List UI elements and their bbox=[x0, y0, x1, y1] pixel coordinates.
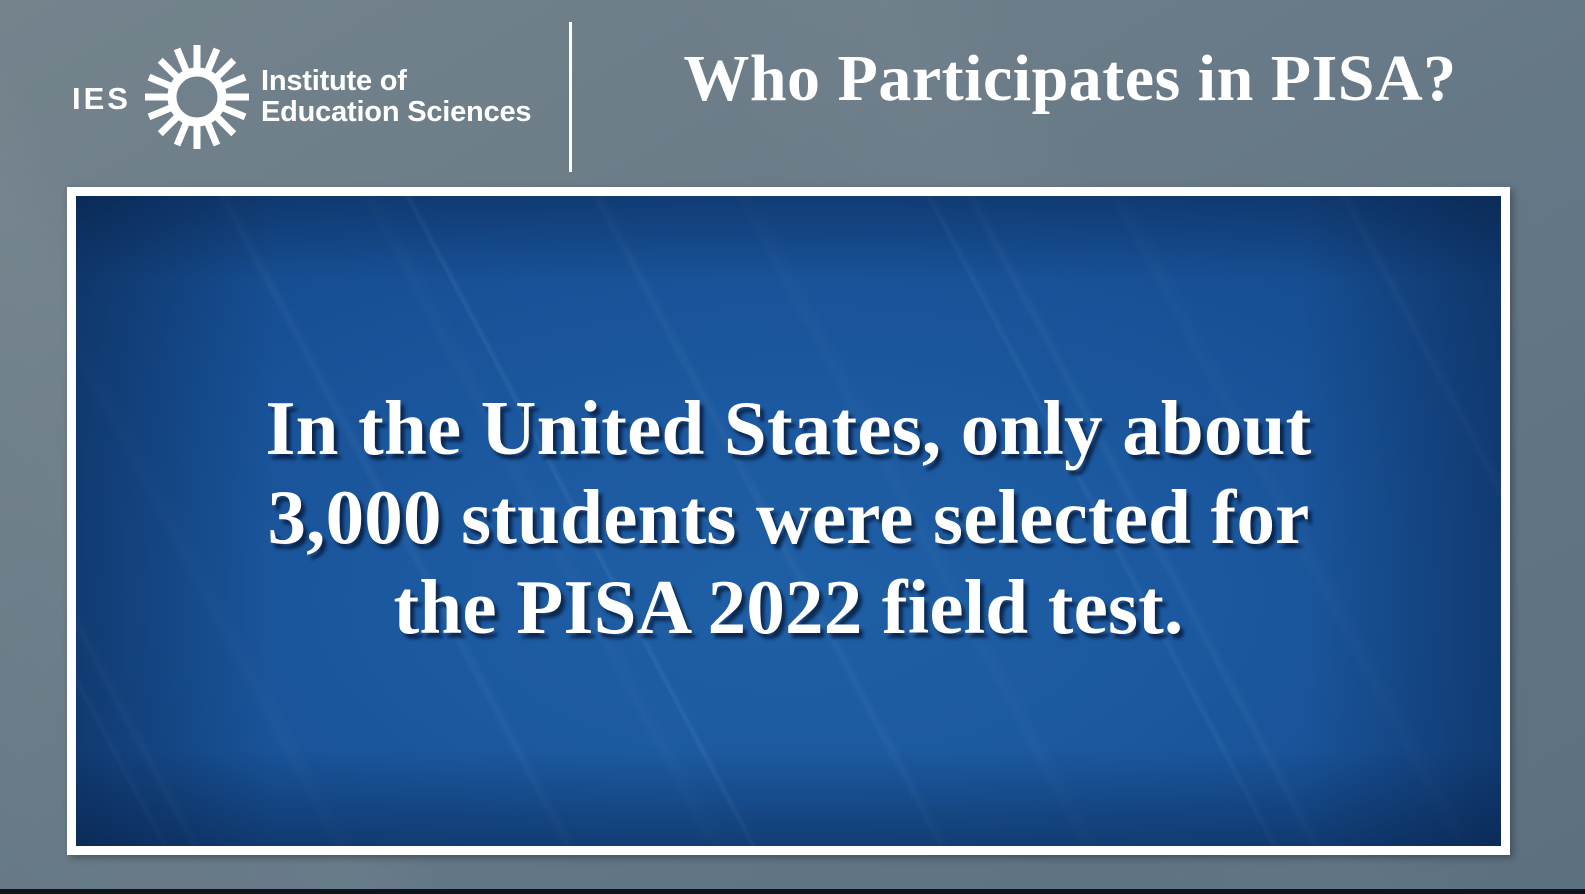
bottom-edge-rule bbox=[0, 889, 1585, 894]
vertical-divider bbox=[569, 22, 572, 172]
slide-header: IES bbox=[0, 0, 1585, 186]
organization-line-2: Education Sciences bbox=[261, 97, 531, 128]
starburst-sun-icon bbox=[145, 45, 249, 149]
content-panel: In the United States, only about 3,000 s… bbox=[76, 196, 1501, 846]
headline-line-2: 3,000 students were selected for bbox=[144, 473, 1434, 562]
ies-logo: IES bbox=[72, 52, 531, 142]
headline-line-3: the PISA 2022 field test. bbox=[144, 563, 1434, 652]
ies-acronym: IES bbox=[72, 83, 131, 114]
content-panel-body: In the United States, only about 3,000 s… bbox=[76, 196, 1501, 846]
content-panel-frame: In the United States, only about 3,000 s… bbox=[67, 187, 1510, 855]
presentation-slide: IES bbox=[0, 0, 1585, 894]
headline-text: In the United States, only about 3,000 s… bbox=[144, 384, 1434, 652]
headline-line-1: In the United States, only about bbox=[144, 384, 1434, 473]
organization-line-1: Institute of bbox=[261, 66, 531, 97]
page-title: Who Participates in PISA? bbox=[600, 44, 1540, 113]
organization-name: Institute of Education Sciences bbox=[261, 66, 531, 129]
